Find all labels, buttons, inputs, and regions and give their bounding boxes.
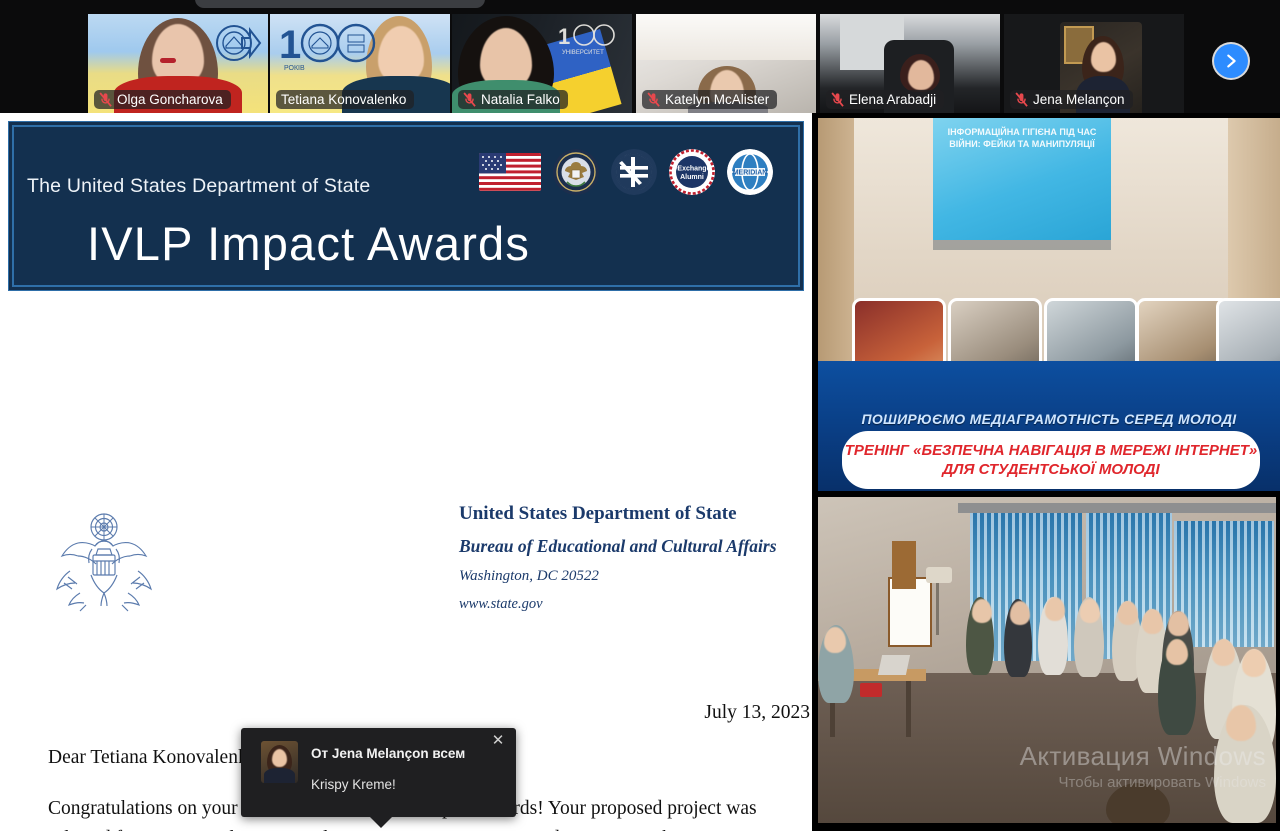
us-flag-icon xyxy=(479,153,541,191)
watermark-line-1: Активация Windows xyxy=(1020,741,1266,772)
microphone-muted-icon xyxy=(463,92,476,107)
participant-name-label: Natalia Falko xyxy=(481,92,560,107)
certificate-group-photo: Інформаційна гігієна під час війни: фейк… xyxy=(818,118,1280,491)
university-logo-icon: 1 УНІВЕРСИТЕТ xyxy=(558,20,622,56)
banner-organization-label: The United States Department of State xyxy=(27,175,370,198)
participant-name-label: Elena Arabadji xyxy=(849,92,936,107)
letterhead-block: United States Department of State Bureau… xyxy=(459,503,777,613)
exchange-alumni-icon: #Exchange Alumni xyxy=(669,149,715,195)
participant-tile-elena-arabadji[interactable]: Elena Arabadji xyxy=(820,14,1000,113)
chat-toast-tail xyxy=(370,817,392,828)
state-department-seal-icon xyxy=(553,149,599,195)
windows-activation-watermark: Активация Windows Чтобы активировать Win… xyxy=(1020,741,1266,791)
great-seal-eagle-icon xyxy=(48,505,160,621)
microphone-muted-icon xyxy=(1015,92,1028,107)
letter-date-value: July 13, 2023 xyxy=(704,702,811,723)
participant-tile-katelyn-mcalister[interactable]: Katelyn McAlister xyxy=(636,14,816,113)
close-icon[interactable]: ✕ xyxy=(488,731,508,751)
svg-text:MERIDIAN: MERIDIAN xyxy=(733,170,768,177)
filmstrip-next-button[interactable] xyxy=(1214,44,1248,78)
svg-text:Alumni: Alumni xyxy=(680,174,704,181)
zoom-meeting-window: Olga Goncharova 1 РОК xyxy=(0,0,1280,831)
participant-name-label: Jena Melançon xyxy=(1033,92,1125,107)
chat-sender-label: От Jena Melançon всем xyxy=(311,746,465,761)
university-anniversary-logo-icon: 1 РОКІВ xyxy=(278,18,378,72)
participant-name-badge: Katelyn McAlister xyxy=(642,90,777,109)
microphone-muted-icon xyxy=(831,92,844,107)
letterhead-line-1: United States Department of State xyxy=(459,503,777,525)
letter-salutation: Dear Tetiana Konovalenko, xyxy=(48,747,262,769)
svg-text:РОКІВ: РОКІВ xyxy=(284,65,305,72)
svg-text:#Exchange: #Exchange xyxy=(674,166,711,173)
chat-sender-avatar xyxy=(261,741,298,783)
shared-screen-document: The United States Department of State IV… xyxy=(0,113,812,831)
university-logo-icon xyxy=(208,20,268,72)
microphone-muted-icon xyxy=(99,92,112,107)
banner-title: IVLP Impact Awards xyxy=(87,216,530,271)
svg-text:1: 1 xyxy=(279,23,301,67)
participant-tile-olga-goncharova[interactable]: Olga Goncharova xyxy=(88,14,268,113)
letterhead-website: www.state.gov xyxy=(459,596,777,613)
participant-name-badge: Olga Goncharova xyxy=(94,90,231,109)
chat-message-text: Krispy Kreme! xyxy=(311,777,396,792)
participant-name-label: Olga Goncharova xyxy=(117,92,223,107)
projection-slide: Інформаційна гігієна під час війни: фейк… xyxy=(933,118,1111,240)
participant-name-badge: Tetiana Konovalenko xyxy=(276,90,414,109)
slide-text: Інформаційна гігієна під час війни: фейк… xyxy=(939,126,1105,150)
watermark-line-2: Чтобы активировать Windows xyxy=(1020,774,1266,791)
zoom-meeting-controls-bar[interactable] xyxy=(195,0,485,8)
participant-name-badge: Elena Arabadji xyxy=(826,90,944,109)
microphone-muted-icon xyxy=(647,92,660,107)
participant-name-badge: Jena Melançon xyxy=(1010,90,1133,109)
subheadline-pill: ТРЕНІНГ «БЕЗПЕЧНА НАВІГАЦІЯ В МЕРЕЖІ ІНТ… xyxy=(842,431,1260,489)
participant-tile-jena-melancon[interactable]: Jena Melançon xyxy=(1004,14,1184,113)
meridian-icon: MERIDIAN xyxy=(727,149,773,195)
classroom-seminar-photo: Активация Windows Чтобы активировать Win… xyxy=(818,497,1276,823)
banner-logo-row: #Exchange Alumni MERIDIAN xyxy=(479,149,773,195)
participant-name-label: Tetiana Konovalenko xyxy=(281,92,406,107)
participant-name-label: Katelyn McAlister xyxy=(665,92,769,107)
subheadline-line-1: ТРЕНІНГ «БЕЗПЕЧНА НАВІГАЦІЯ В МЕРЕЖІ ІНТ… xyxy=(845,441,1257,460)
ivlp-globe-icon xyxy=(611,149,657,195)
chevron-right-icon xyxy=(1222,52,1240,70)
participant-name-badge: Natalia Falko xyxy=(458,90,568,109)
letterhead-line-3: Washington, DC 20522 xyxy=(459,568,777,585)
ivlp-award-banner: The United States Department of State IV… xyxy=(8,121,804,291)
headline-text: ПОШИРЮЄМО МЕДІАГРАМОТНІСТЬ СЕРЕД МОЛОДІ xyxy=(818,411,1280,427)
participant-filmstrip: Olga Goncharova 1 РОК xyxy=(0,0,1280,113)
subheadline-line-2: ДЛЯ СТУДЕНТСЬКОЇ МОЛОДІ xyxy=(942,460,1159,479)
svg-text:1: 1 xyxy=(558,24,570,49)
svg-text:УНІВЕРСИТЕТ: УНІВЕРСИТЕТ xyxy=(562,50,604,56)
letterhead-line-2: Bureau of Educational and Cultural Affai… xyxy=(459,536,777,557)
letter-date: July 13, 2023 xyxy=(0,702,812,724)
chat-notification-toast[interactable]: От Jena Melançon всем Krispy Kreme! ✕ xyxy=(241,728,516,817)
participant-tile-tetiana-konovalenko[interactable]: 1 РОКІВ Tetiana Konovalenko xyxy=(270,14,450,113)
participant-tile-natalia-falko[interactable]: 1 УНІВЕРСИТЕТ Natalia Falko xyxy=(452,14,632,113)
